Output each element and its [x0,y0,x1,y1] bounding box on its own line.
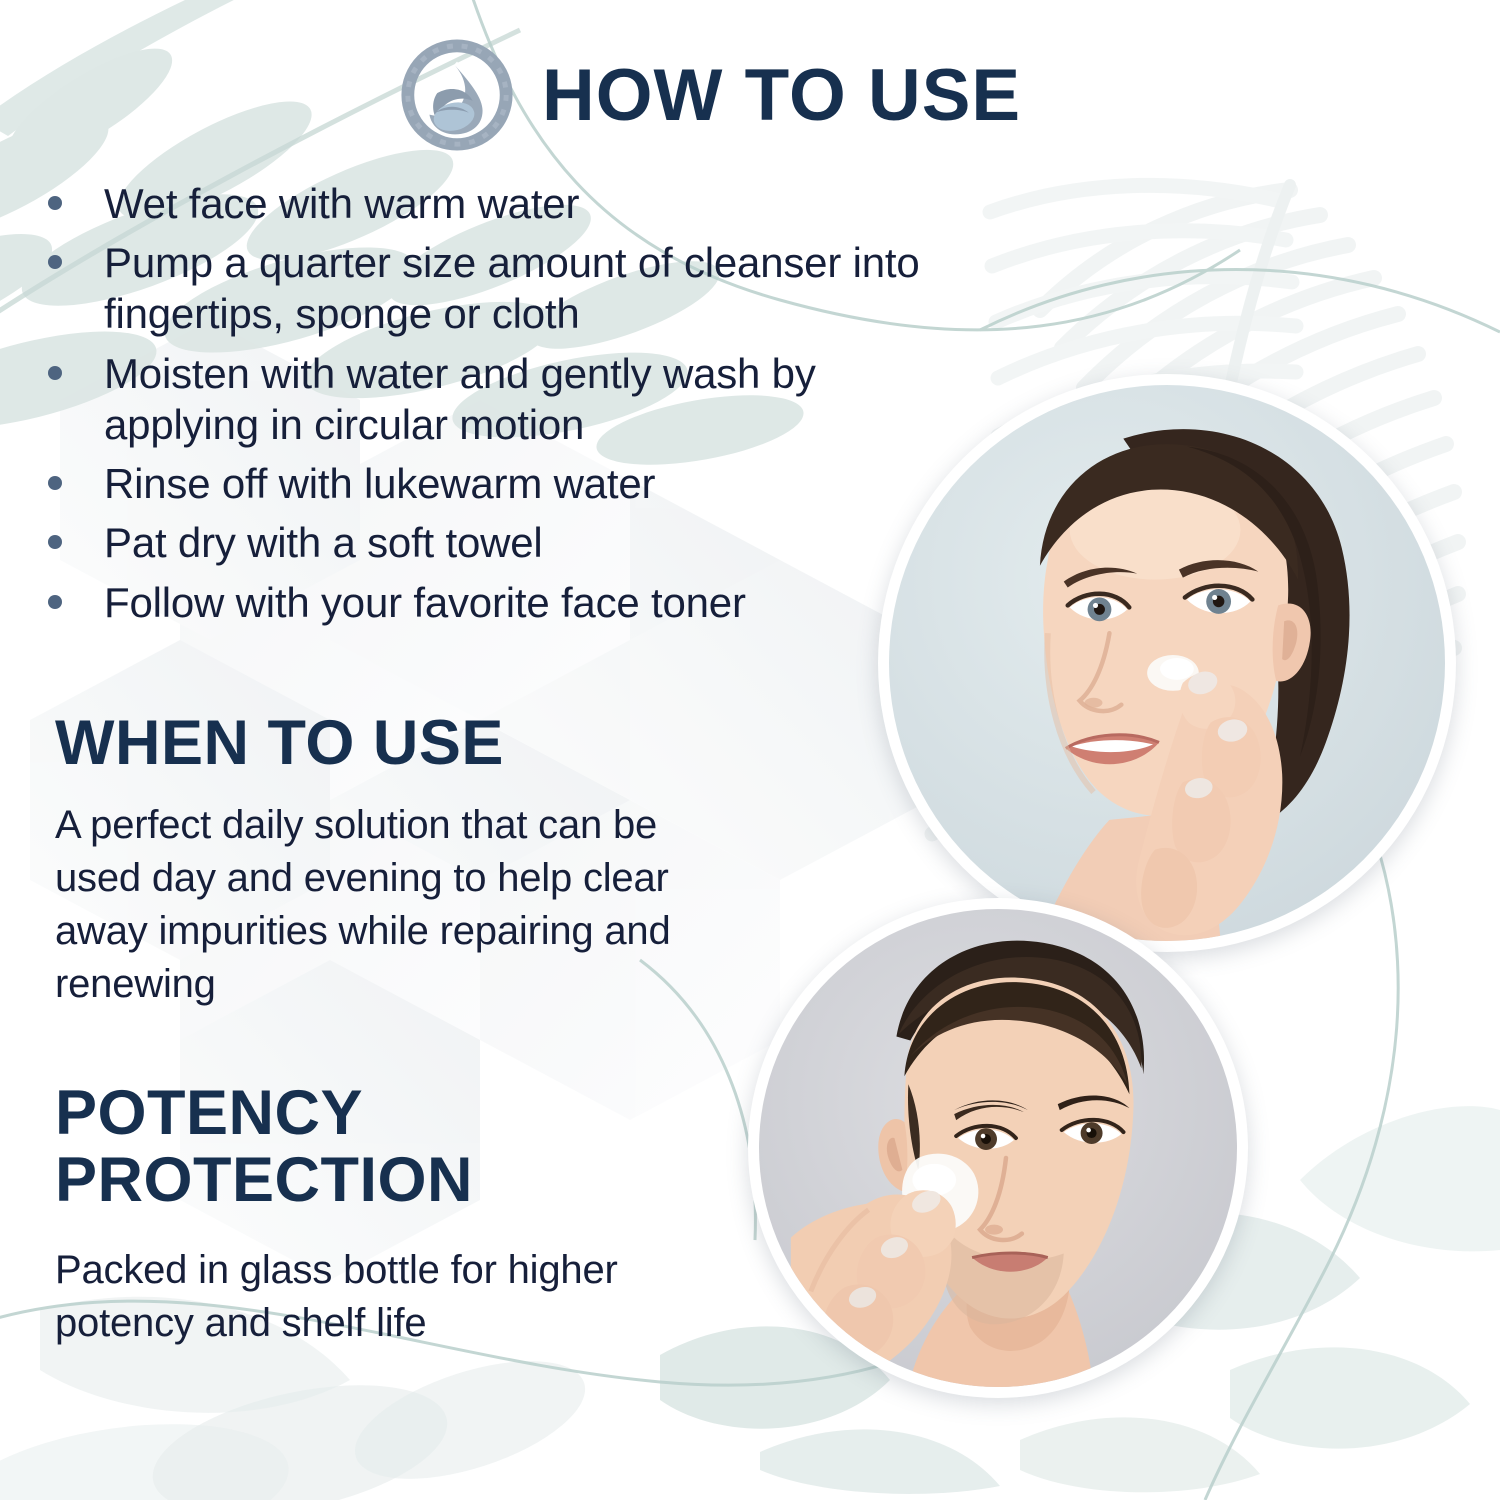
bullet-dot-icon [48,535,62,549]
page-title: HOW TO USE [542,59,1021,132]
infographic-canvas: HOW TO USE Wet face with warm water Pump… [0,0,1500,1500]
potency-protection-heading: POTENCY PROTECTION [55,1080,675,1214]
photo-inner-clip [759,909,1237,1387]
when-to-use-section: WHEN TO USE A perfect daily solution tha… [55,710,695,1012]
potency-protection-body: Packed in glass bottle for higher potenc… [55,1244,675,1350]
list-item-text: Rinse off with lukewarm water [104,458,655,509]
bullet-dot-icon [48,595,62,609]
woman-portrait-illustration [889,385,1445,941]
when-to-use-body: A perfect daily solution that can be use… [55,799,695,1012]
bullet-dot-icon [48,476,62,490]
how-to-use-list: Wet face with warm water Pump a quarter … [48,178,978,636]
photo-inner-clip [889,385,1445,941]
list-item-text: Pump a quarter size amount of cleanser i… [104,237,978,339]
list-item-text: Wet face with warm water [104,178,579,229]
list-item-text: Pat dry with a soft towel [104,517,543,568]
list-item: Moisten with water and gently wash by ap… [48,348,978,450]
bullet-dot-icon [48,255,62,269]
list-item: Wet face with warm water [48,178,978,229]
droplet-leaf-logo-icon [398,36,516,154]
page-header: HOW TO USE [398,36,1021,154]
when-to-use-heading: WHEN TO USE [55,710,695,777]
potency-protection-section: POTENCY PROTECTION Packed in glass bottl… [55,1080,675,1350]
list-item: Pump a quarter size amount of cleanser i… [48,237,978,339]
photo-man-applying-cleanser [748,898,1248,1398]
bullet-dot-icon [48,366,62,380]
list-item-text: Follow with your favorite face toner [104,577,746,628]
list-item: Follow with your favorite face toner [48,577,978,628]
list-item: Rinse off with lukewarm water [48,458,978,509]
man-portrait-illustration [759,909,1237,1387]
list-item-text: Moisten with water and gently wash by ap… [104,348,978,450]
list-item: Pat dry with a soft towel [48,517,978,568]
bullet-dot-icon [48,196,62,210]
photo-woman-applying-cream [878,374,1456,952]
